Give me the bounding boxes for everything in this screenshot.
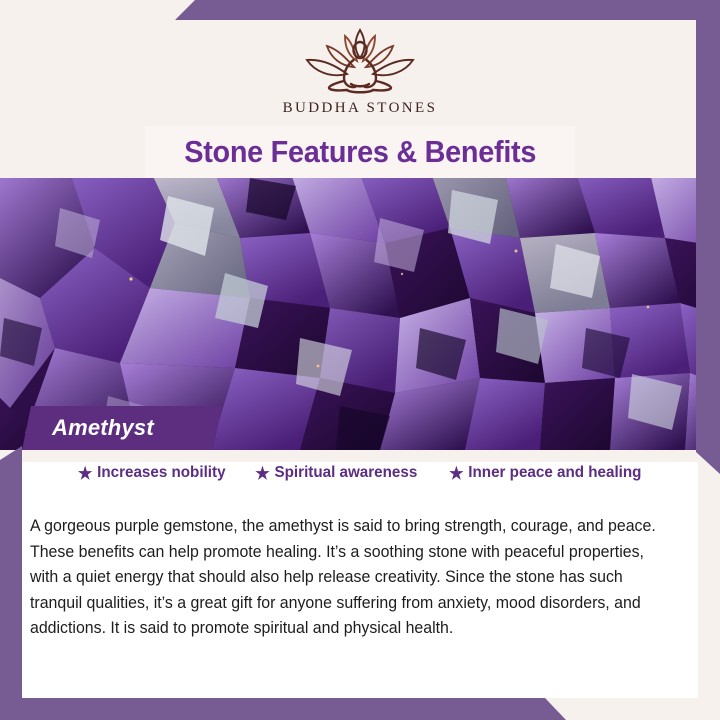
brand-logo: BUDDHA STONES bbox=[0, 24, 720, 117]
frame-accent-bottom bbox=[0, 698, 720, 720]
benefit-label: Increases nobility bbox=[97, 464, 225, 482]
star-icon: ★ bbox=[449, 465, 463, 482]
benefit-label: Spiritual awareness bbox=[275, 464, 418, 482]
page-title: Stone Features & Benefits bbox=[184, 134, 536, 170]
benefit-item: ★ Increases nobility bbox=[78, 464, 226, 482]
benefits-list: ★ Increases nobility ★ Spiritual awarene… bbox=[22, 464, 698, 482]
benefit-item: ★ Spiritual awareness bbox=[255, 464, 417, 482]
stone-description: A gorgeous purple gemstone, the amethyst… bbox=[30, 514, 670, 642]
star-icon: ★ bbox=[78, 465, 92, 482]
stone-name-badge: Amethyst bbox=[22, 406, 222, 450]
star-icon: ★ bbox=[255, 465, 269, 482]
stone-details-card: ★ Increases nobility ★ Spiritual awarene… bbox=[22, 450, 698, 698]
frame-accent-right bbox=[696, 0, 720, 474]
stone-name-label: Amethyst bbox=[52, 415, 154, 441]
brand-name: BUDDHA STONES bbox=[283, 100, 438, 117]
frame-accent-left bbox=[0, 446, 22, 720]
page-title-band: Stone Features & Benefits bbox=[145, 126, 575, 178]
lotus-meditation-icon bbox=[285, 24, 435, 96]
benefit-item: ★ Inner peace and healing bbox=[449, 464, 641, 482]
card-top-strip bbox=[22, 450, 698, 462]
benefit-label: Inner peace and healing bbox=[468, 464, 641, 482]
